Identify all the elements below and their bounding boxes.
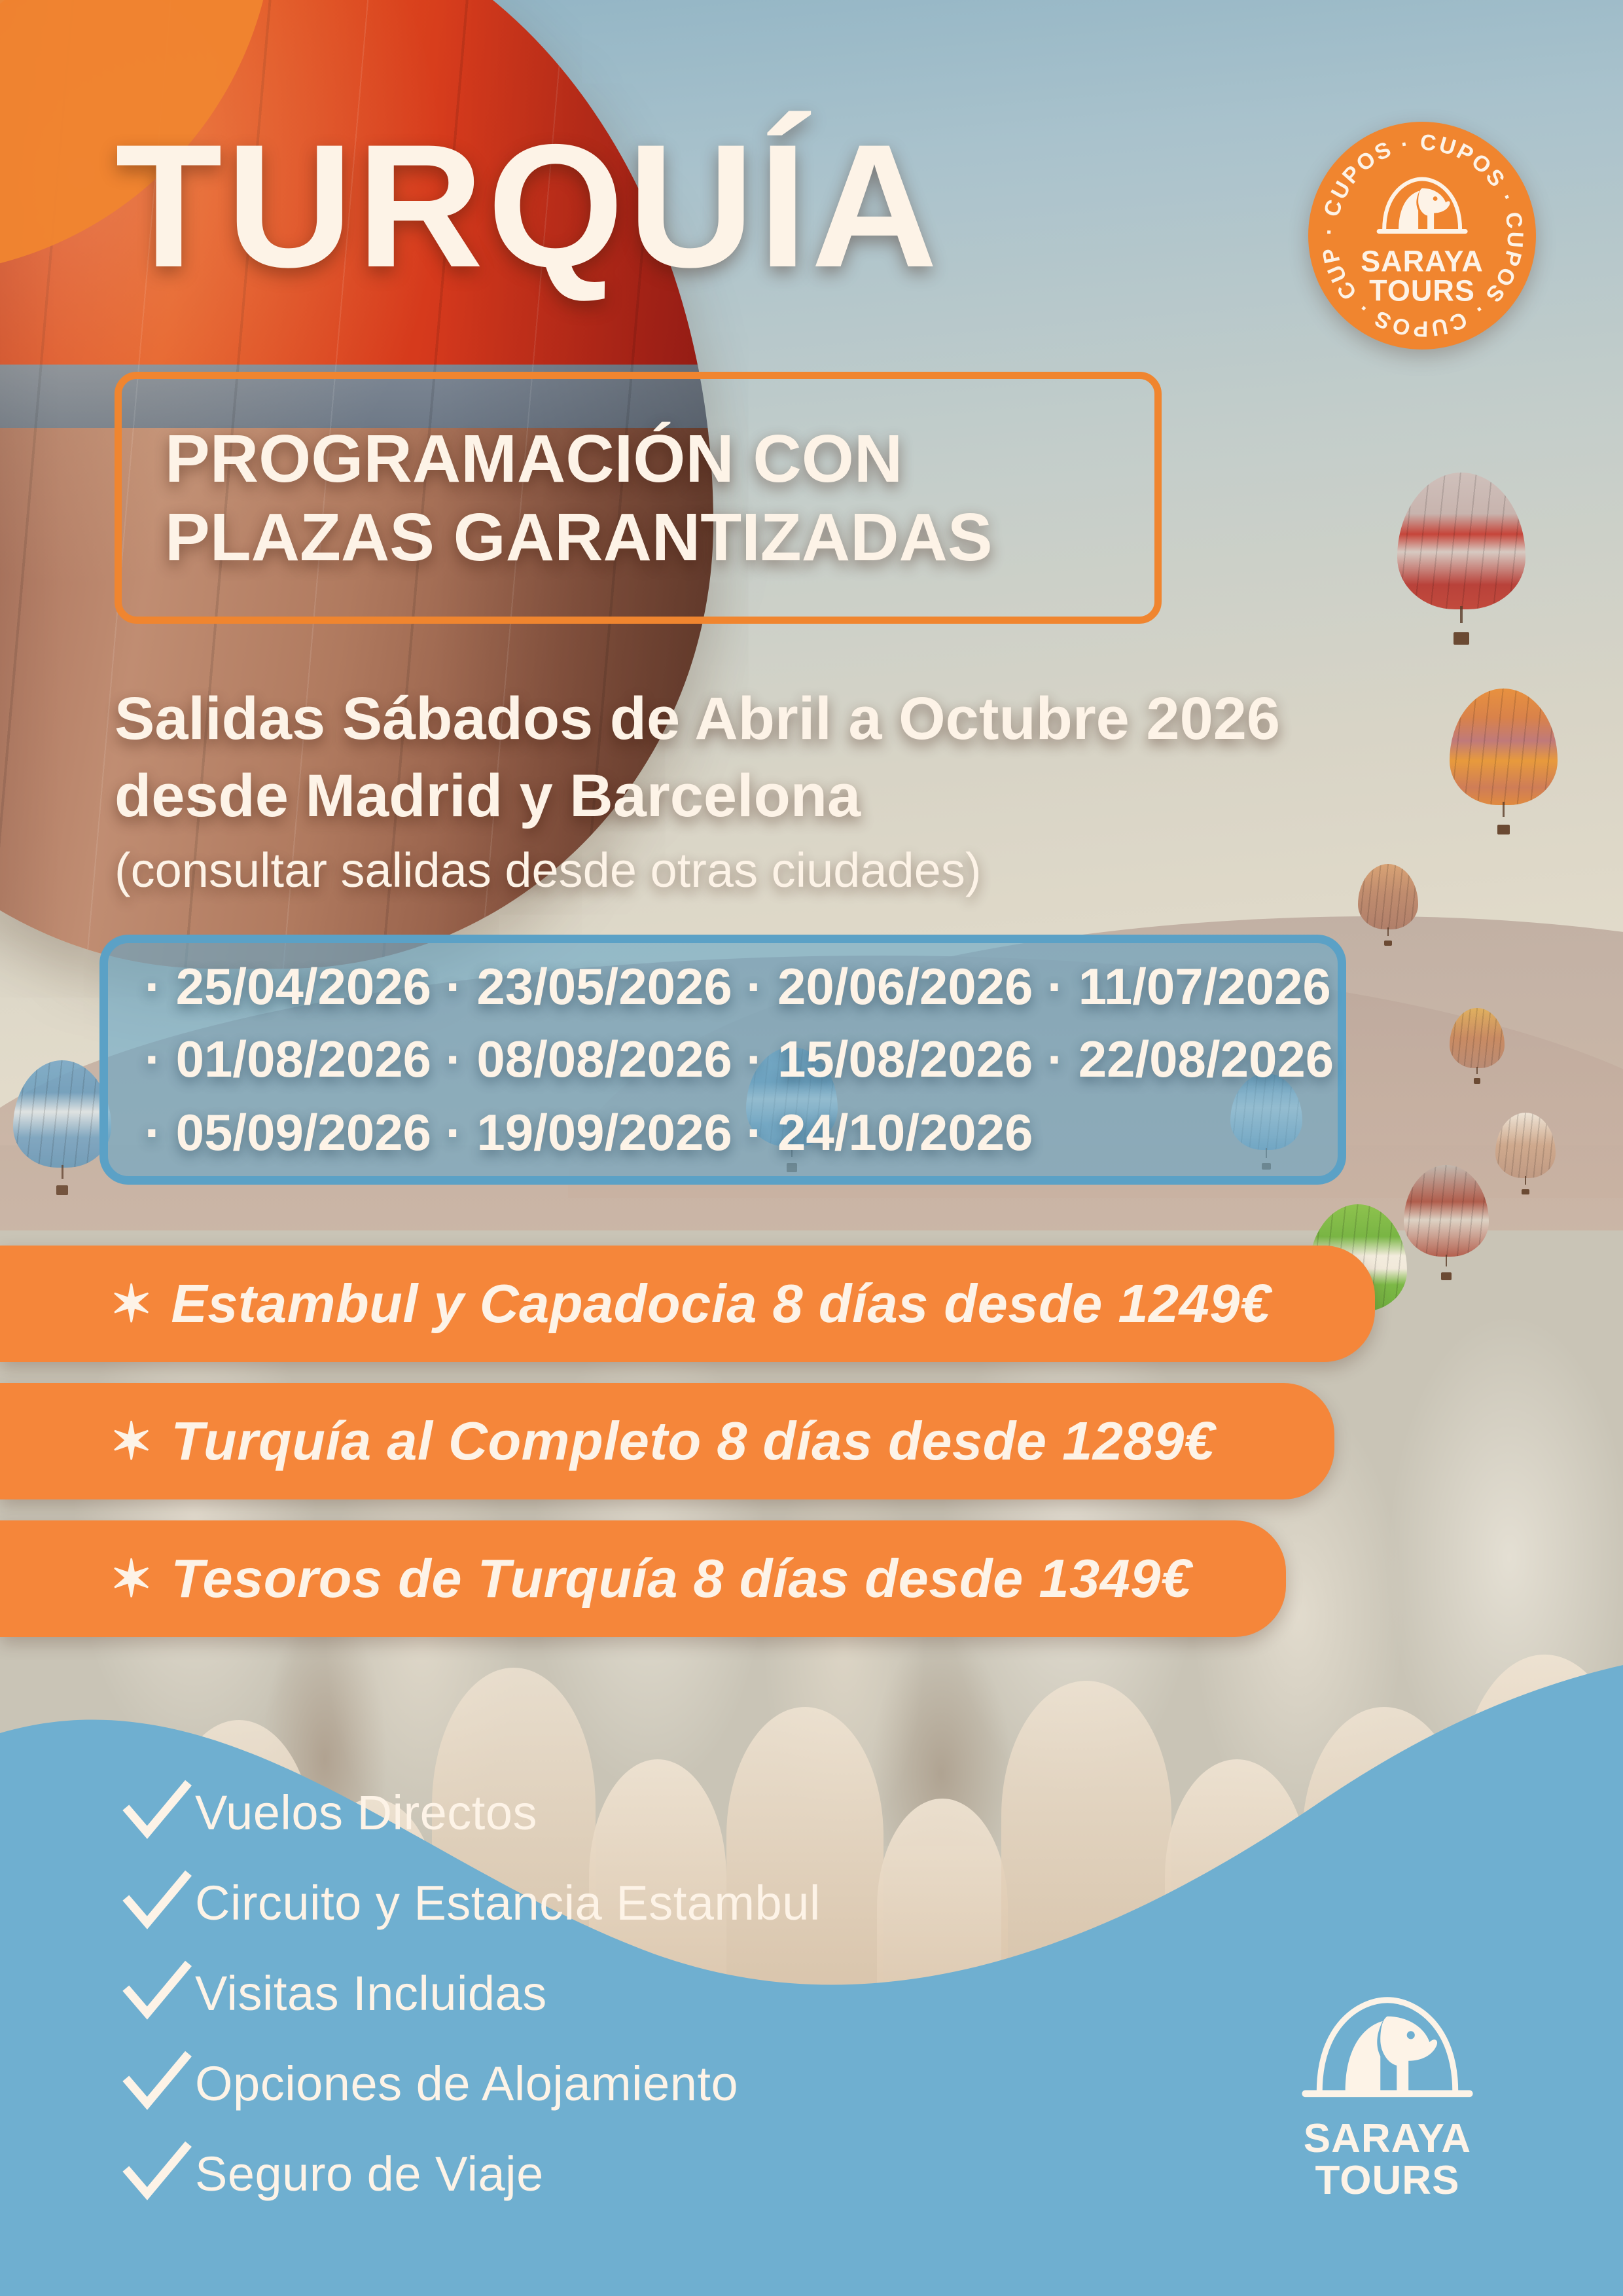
hot-air-balloon-small	[1404, 1165, 1489, 1283]
feature-label: Circuito y Estancia Estambul	[195, 1875, 821, 1931]
offer-bar-estambul-capadocia[interactable]: ✶ Estambul y Capadocia 8 días desde 1249…	[0, 1246, 1375, 1362]
feature-label: Seguro de Viaje	[195, 2146, 544, 2202]
check-icon	[118, 1864, 195, 1941]
list-item: Seguro de Viaje	[118, 2128, 821, 2219]
check-icon	[118, 1774, 195, 1851]
departures-line1: Salidas Sábados de Abril a Octubre 2026	[115, 681, 1502, 758]
check-icon	[118, 2135, 195, 2212]
highlight-line2: PLAZAS GARANTIZADAS	[165, 498, 993, 576]
list-item: Circuito y Estancia Estambul	[118, 1857, 821, 1948]
departures-line2: desde Madrid y Barcelona	[115, 758, 1502, 835]
highlight-line1: PROGRAMACIÓN CON	[165, 420, 993, 497]
badge-logo: SARAYA TOURS	[1361, 175, 1484, 305]
hot-air-balloon-small	[1450, 1008, 1505, 1085]
offer-bar-turquia-completo[interactable]: ✶ Turquía al Completo 8 días desde 1289€	[0, 1383, 1334, 1499]
hot-air-balloon-small	[1397, 473, 1525, 648]
hot-air-balloon-small	[1495, 1113, 1556, 1196]
offer-label: Estambul y Capadocia 8 días desde 1249€	[171, 1272, 1270, 1335]
offer-bar-tesoros-turquia[interactable]: ✶ Tesoros de Turquía 8 días desde 1349€	[0, 1520, 1286, 1637]
list-item: Vuelos Directos	[118, 1767, 821, 1857]
falcon-arch-icon	[1289, 1993, 1486, 2115]
hot-air-balloon-small	[13, 1060, 111, 1198]
sparkle-star-icon: ✶	[110, 1278, 152, 1329]
departure-dates-box: · 25/04/2026 · 23/05/2026 · 20/06/2026 ·…	[99, 935, 1346, 1185]
poster-root: TURQUÍA · CUPOS · CUPOS · CUPOS · CUPOS …	[0, 0, 1623, 2296]
dates-row: · 25/04/2026 · 23/05/2026 · 20/06/2026 ·…	[145, 950, 1338, 1024]
highlight-box: PROGRAMACIÓN CON PLAZAS GARANTIZADAS	[115, 372, 1162, 624]
feature-label: Opciones de Alojamiento	[195, 2056, 738, 2111]
check-icon	[118, 2045, 195, 2122]
falcon-arch-icon	[1370, 175, 1474, 243]
highlight-text: PROGRAMACIÓN CON PLAZAS GARANTIZADAS	[122, 420, 993, 576]
feature-label: Visitas Incluidas	[195, 1965, 547, 2021]
feature-label: Vuelos Directos	[195, 1785, 537, 1840]
dates-row: · 01/08/2026 · 08/08/2026 · 15/08/2026 ·…	[145, 1023, 1338, 1096]
departures-note: (consultar salidas desde otras ciudades)	[115, 839, 1502, 902]
features-list: Vuelos Directos Circuito y Estancia Esta…	[118, 1767, 821, 2219]
footer-brand-line2: TOURS	[1279, 2160, 1495, 2202]
footer-logo: SARAYA TOURS	[1279, 1993, 1495, 2202]
badge-brand-line2: TOURS	[1361, 276, 1484, 305]
list-item: Visitas Incluidas	[118, 1948, 821, 2038]
sparkle-star-icon: ✶	[110, 1553, 152, 1604]
departures-block: Salidas Sábados de Abril a Octubre 2026 …	[115, 681, 1502, 902]
badge-brand-line1: SARAYA	[1361, 246, 1484, 276]
sparkle-star-icon: ✶	[110, 1416, 152, 1467]
offer-label: Turquía al Completo 8 días desde 1289€	[171, 1410, 1215, 1473]
offer-label: Tesoros de Turquía 8 días desde 1349€	[171, 1547, 1191, 1610]
list-item: Opciones de Alojamiento	[118, 2038, 821, 2128]
footer-brand-line1: SARAYA	[1279, 2118, 1495, 2160]
check-icon	[118, 1954, 195, 2032]
page-title: TURQUÍA	[115, 122, 942, 290]
dates-row: · 05/09/2026 · 19/09/2026 · 24/10/2026	[145, 1096, 1338, 1170]
cupos-badge: · CUPOS · CUPOS · CUPOS · CUPOS · CUPOS …	[1308, 122, 1536, 350]
